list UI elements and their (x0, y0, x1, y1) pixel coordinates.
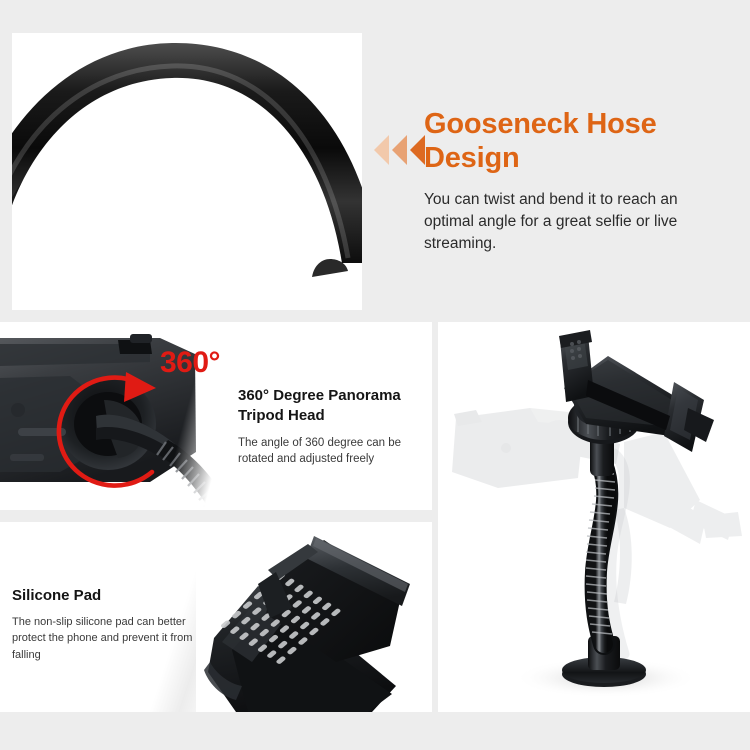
panorama-description: The angle of 360 degree can be rotated a… (238, 435, 428, 468)
silicone-title: Silicone Pad (12, 586, 212, 606)
panorama-text-block: 360° Degree Panorama Tripod Head The ang… (238, 386, 428, 468)
gooseneck-photo-card (12, 33, 362, 310)
product-panel (438, 322, 750, 712)
chevrons-left-icon (372, 133, 428, 167)
infographic-root: Gooseneck Hose Design You can twist and … (0, 0, 750, 750)
panorama-title-line1: 360° Degree Panorama (238, 387, 401, 404)
panel-divider-vertical (432, 322, 438, 712)
hero-title-line2: Design (424, 142, 742, 176)
panorama-description-line1: The angle of 360 degree can be (238, 437, 401, 449)
status-badge: 360° (160, 348, 220, 378)
panorama-description-line2: rotated and adjusted freely (238, 453, 374, 465)
hero-text-block: Gooseneck Hose Design You can twist and … (424, 108, 742, 255)
silicone-text-block: Silicone Pad The non-slip silicone pad c… (12, 586, 212, 663)
panel-divider-horizontal (0, 510, 432, 522)
silicone-description: The non-slip silicone pad can better pro… (12, 614, 212, 664)
panorama-title: 360° Degree Panorama Tripod Head (238, 386, 428, 426)
phone-holder-gooseneck-stand-photo (438, 322, 750, 712)
page-title: Gooseneck Hose Design (424, 108, 742, 175)
gooseneck-hose-photo (12, 33, 362, 310)
silicone-pad-clamp-photo (196, 522, 432, 712)
hero-title-line1: Gooseneck Hose (424, 108, 657, 140)
hero-description: You can twist and bend it to reach an op… (424, 189, 724, 255)
panorama-title-line2: Tripod Head (238, 407, 325, 424)
